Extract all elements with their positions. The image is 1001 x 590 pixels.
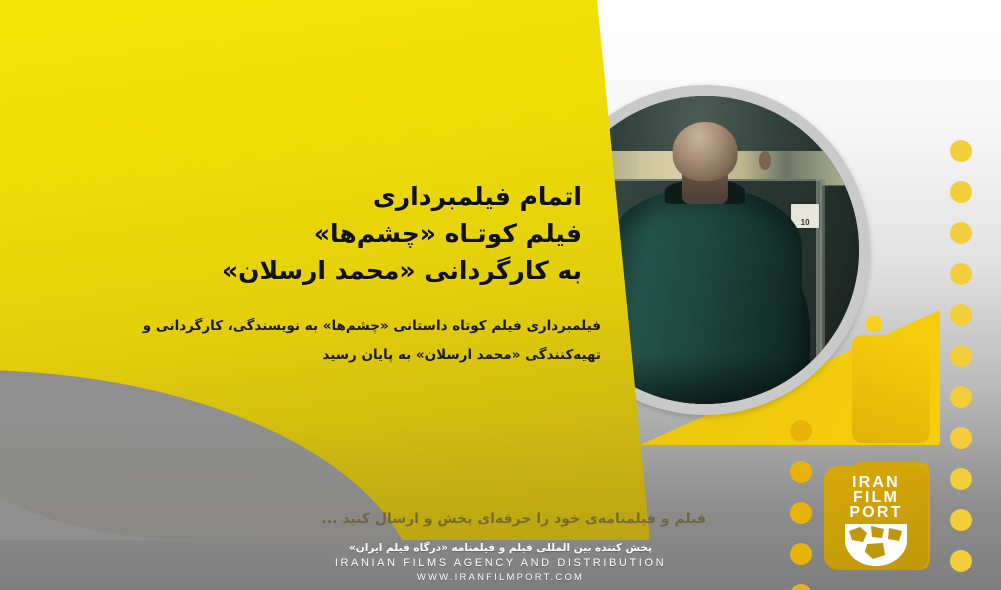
film-perforation bbox=[950, 509, 972, 531]
headline-line-2: فیلم کوتـاه «چشم‌ها» bbox=[162, 215, 582, 252]
film-perforation bbox=[790, 502, 812, 524]
footer-persian: پخش کننده بین المللی فیلم و فیلمنامه «در… bbox=[0, 540, 1001, 554]
film-perforation bbox=[790, 420, 812, 442]
headline-line-1: اتمام فیلمبرداری bbox=[162, 178, 582, 215]
film-perforation bbox=[950, 222, 972, 244]
film-perforation bbox=[950, 386, 972, 408]
poster-canvas: IRAN FILM PORT اتمام فیلمب bbox=[0, 0, 1001, 590]
film-frame-top bbox=[852, 335, 930, 443]
logo-line-3: PORT bbox=[824, 505, 928, 520]
subtitle: فیلمبرداری فیلم کوتاه داستانی «چشم‌ها» ب… bbox=[156, 312, 601, 370]
film-perforation bbox=[950, 427, 972, 449]
tagline: فیلم و فیلمنامه‌ی خود را حرفه‌ای پخش و ا… bbox=[322, 511, 706, 527]
photo-door-sign bbox=[791, 204, 819, 229]
logo-wordmark: IRAN FILM PORT bbox=[824, 475, 928, 520]
page-title: اتمام فیلمبرداری فیلم کوتـاه «چشم‌ها» به… bbox=[162, 178, 582, 289]
subtitle-line-2: تهیه‌کنندگی «محمد ارسلان» به پایان رسید bbox=[156, 341, 601, 370]
footer-url[interactable]: WWW.IRANFILMPORT.COM bbox=[0, 569, 1001, 583]
film-perforation bbox=[950, 304, 972, 326]
subtitle-line-1: فیلمبرداری فیلم کوتاه داستانی «چشم‌ها» ب… bbox=[156, 312, 601, 341]
photo-man-head bbox=[673, 122, 738, 181]
film-perforation bbox=[950, 468, 972, 490]
footer-english: IRANIAN FILMS AGENCY AND DISTRIBUTION bbox=[0, 554, 1001, 569]
film-perforation bbox=[950, 263, 972, 285]
logo-line-2: FILM bbox=[824, 490, 928, 505]
film-perforation bbox=[950, 345, 972, 367]
film-perforation bbox=[950, 181, 972, 203]
film-frame-nub bbox=[866, 316, 882, 332]
footer: پخش کننده بین المللی فیلم و فیلمنامه «در… bbox=[0, 540, 1001, 590]
film-perforation bbox=[790, 461, 812, 483]
headline-line-3: به کارگردانی «محمد ارسلان» bbox=[162, 252, 582, 289]
film-perforation bbox=[950, 140, 972, 162]
logo-line-1: IRAN bbox=[824, 475, 928, 490]
film-perforations-outer bbox=[950, 140, 972, 590]
photo-man-ear bbox=[759, 151, 771, 169]
